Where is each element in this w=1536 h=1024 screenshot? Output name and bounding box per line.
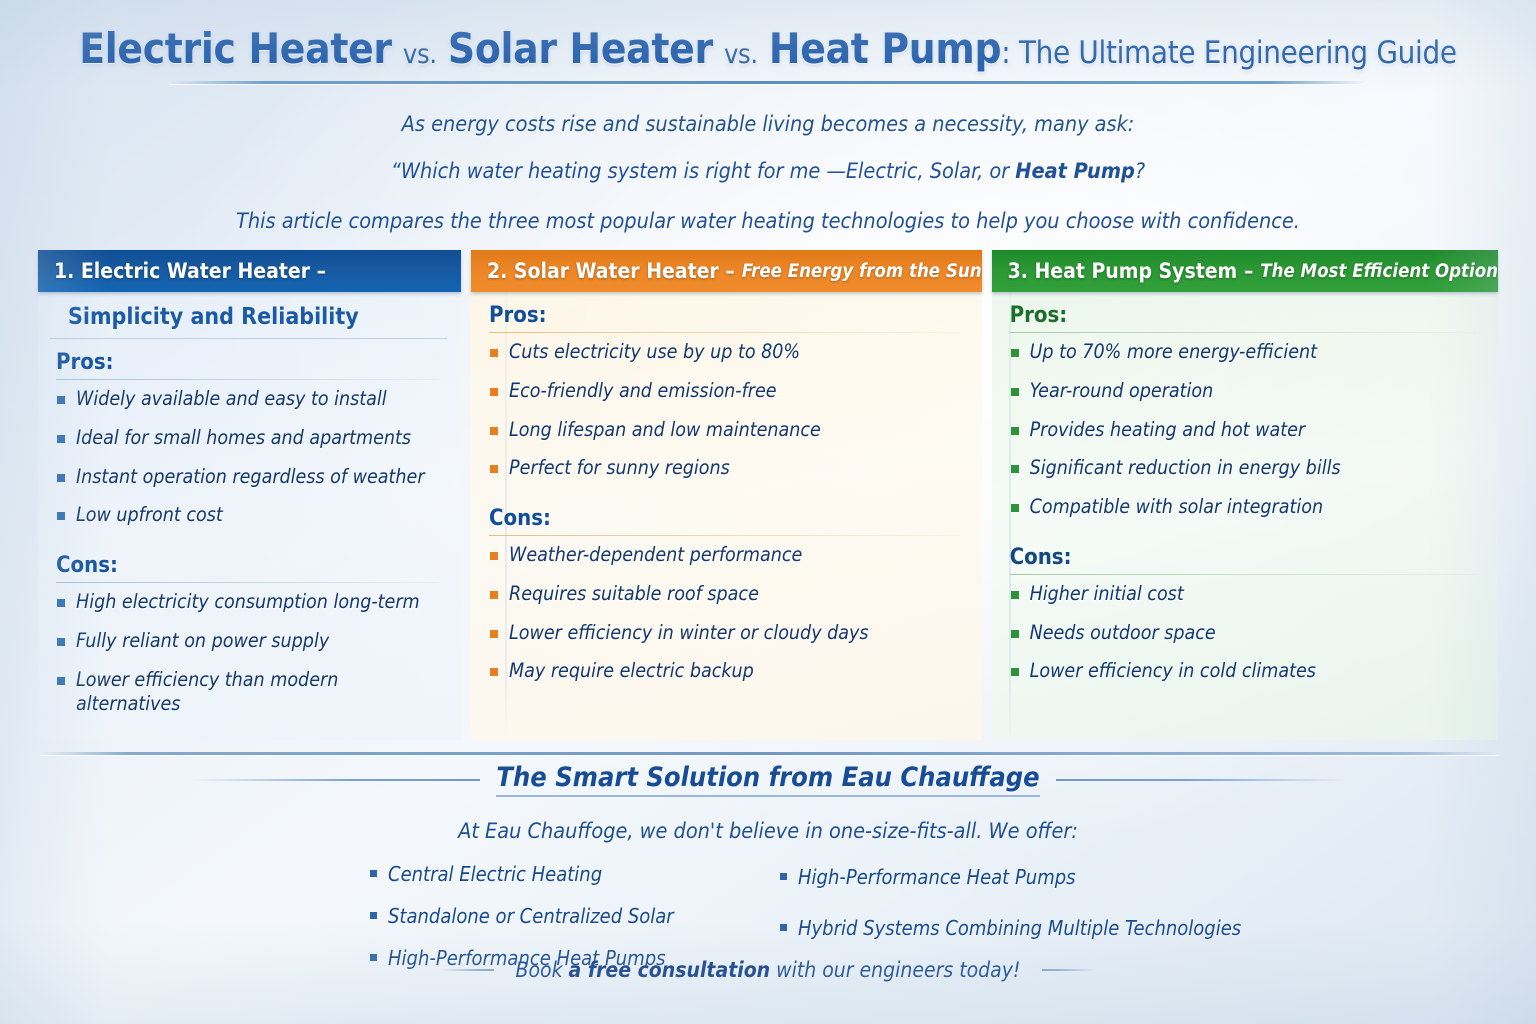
column-3-cons-divider [1010,574,1476,575]
column-2-header-subtitle: Free Energy from the Sun [742,261,982,282]
list-item: Lower efficiency in cold climates [1008,659,1482,684]
list-item: Hybrid Systems Combining Multiple Techno… [778,916,1168,940]
column-3-header-subtitle: The Most Efficient Option [1260,261,1498,282]
list-item: Perfect for sunny regions [487,456,966,481]
column-1-pros-divider [56,379,439,380]
column-1-pros-section: Pros: Widely available and easy to insta… [38,339,461,528]
title-section: Electric Heater vs. Solar Heater vs. Hea… [0,0,1536,84]
cta-post: with our engineers today! [770,958,1020,982]
column-2-pros-list: Cuts electricity use by up to 80% Eco-fr… [487,340,966,481]
column-electric-water-heater: 1. Electric Water Heater – Simplicity an… [38,250,461,740]
title-vs-2: vs. [724,39,758,70]
column-3-cons-section: Cons: Higher initial cost Needs outdoor … [992,534,1498,684]
list-item: Low upfront cost [54,503,445,528]
cta-row: Book a free consultation with our engine… [0,958,1536,982]
column-2-cons-label: Cons: [487,495,966,534]
list-item: Higher initial cost [1008,582,1482,607]
footer-title-rule-right [1056,779,1346,781]
list-item: Year-round operation [1008,379,1482,404]
cta-text[interactable]: Book a free consultation with our engine… [516,958,1021,982]
list-item: Central Electric Heating [368,862,768,886]
list-item: Lower efficiency than modern alternative… [54,668,445,718]
list-item: Instant operation regardless of weather [54,465,445,490]
column-1-pros-list: Widely available and easy to install Ide… [54,387,445,528]
column-3-header-title: 3. Heat Pump System – [1008,259,1254,283]
list-item: Significant reduction in energy bills [1008,456,1482,481]
cta-pre: Book [516,958,569,982]
column-3-cons-label: Cons: [1008,534,1482,573]
column-1-pros-label: Pros: [54,339,445,378]
list-item: Ideal for small homes and apartments [54,426,445,451]
footer-title-rule-left [190,779,480,781]
list-item: Standalone or Centralized Solar [368,904,768,928]
footer-lead-text: At Eau Chauffoge, we don't believe in on… [0,819,1536,844]
list-item: Weather-dependent performance [487,543,966,568]
title-vs-1: vs. [403,39,437,70]
column-1-cons-label: Cons: [54,542,445,581]
column-2-cons-section: Cons: Weather-dependent performance Requ… [471,495,982,684]
title-tail: : The Ultimate Engineering Guide [1001,35,1457,71]
footer-section: The Smart Solution from Eau Chauffage At… [0,762,1536,988]
intro-line-1: As energy costs rise and sustainable liv… [0,108,1536,141]
list-item: High electricity consumption long-term [54,590,445,615]
list-item: Compatible with solar integration [1008,495,1482,520]
column-1-header: 1. Electric Water Heater – [38,250,461,292]
column-1-cons-list: High electricity consumption long-term F… [54,590,445,717]
footer-title-row: The Smart Solution from Eau Chauffage [0,762,1536,797]
column-heat-pump-system: 3. Heat Pump System – The Most Efficient… [992,250,1498,740]
list-item: Cuts electricity use by up to 80% [487,340,966,365]
list-item: Requires suitable roof space [487,582,966,607]
column-3-cons-list: Higher initial cost Needs outdoor space … [1008,582,1482,684]
list-item: High-Performance Heat Pumps [778,865,1168,889]
column-2-header: 2. Solar Water Heater – Free Energy from… [471,250,982,292]
footer-top-divider [40,752,1498,755]
column-2-pros-section: Pros: Cuts electricity use by up to 80% … [471,292,982,481]
column-solar-water-heater: 2. Solar Water Heater – Free Energy from… [471,250,982,740]
comparison-columns: 1. Electric Water Heater – Simplicity an… [38,250,1498,740]
list-item: Eco-friendly and emission-free [487,379,966,404]
list-item: Widely available and easy to install [54,387,445,412]
column-2-cons-list: Weather-dependent performance Requires s… [487,543,966,684]
intro-line-3: This article compares the three most pop… [0,205,1536,238]
column-2-header-title: 2. Solar Water Heater – [487,259,735,283]
list-item: May require electric backup [487,659,966,684]
column-1-cons-divider [56,582,439,583]
column-3-header: 3. Heat Pump System – The Most Efficient… [992,250,1498,292]
list-item: Long lifespan and low maintenance [487,418,966,443]
intro-section: As energy costs rise and sustainable liv… [0,108,1536,238]
infographic-page: Electric Heater vs. Solar Heater vs. Hea… [0,0,1536,1024]
intro-line-2: “Which water heating system is right for… [0,155,1536,188]
list-item: Up to 70% more energy-efficient [1008,340,1482,365]
title-part-electric: Electric Heater [79,24,392,73]
column-1-header-title: 1. Electric Water Heater – [54,259,326,283]
column-2-cons-divider [489,535,960,536]
column-1-subtitle: Simplicity and Reliability [50,292,447,339]
title-divider [170,81,1366,84]
list-item: Lower efficiency in winter or cloudy day… [487,621,966,646]
cta-rule-left [440,969,494,971]
cta-highlight: a free consultation [569,958,771,982]
footer-title: The Smart Solution from Eau Chauffage [496,762,1039,797]
list-item: Fully reliant on power supply [54,629,445,654]
column-3-pros-divider [1010,332,1476,333]
page-title: Electric Heater vs. Solar Heater vs. Hea… [0,26,1536,72]
column-3-pros-label: Pros: [1008,292,1482,331]
list-item: Needs outdoor space [1008,621,1482,646]
cta-rule-right [1042,969,1096,971]
column-2-pros-label: Pros: [487,292,966,331]
intro-quote-post: ? [1135,159,1145,184]
title-part-solar: Solar Heater [448,24,713,73]
column-3-pros-list: Up to 70% more energy-efficient Year-rou… [1008,340,1482,520]
title-part-heatpump: Heat Pump [769,24,1001,73]
column-2-pros-divider [489,332,960,333]
column-3-pros-section: Pros: Up to 70% more energy-efficient Ye… [992,292,1498,520]
column-1-cons-section: Cons: High electricity consumption long-… [38,542,461,717]
intro-quote-pre: “Which water heating system is right for… [391,159,1015,184]
intro-quote-bold: Heat Pump [1015,159,1135,184]
list-item: Provides heating and hot water [1008,418,1482,443]
